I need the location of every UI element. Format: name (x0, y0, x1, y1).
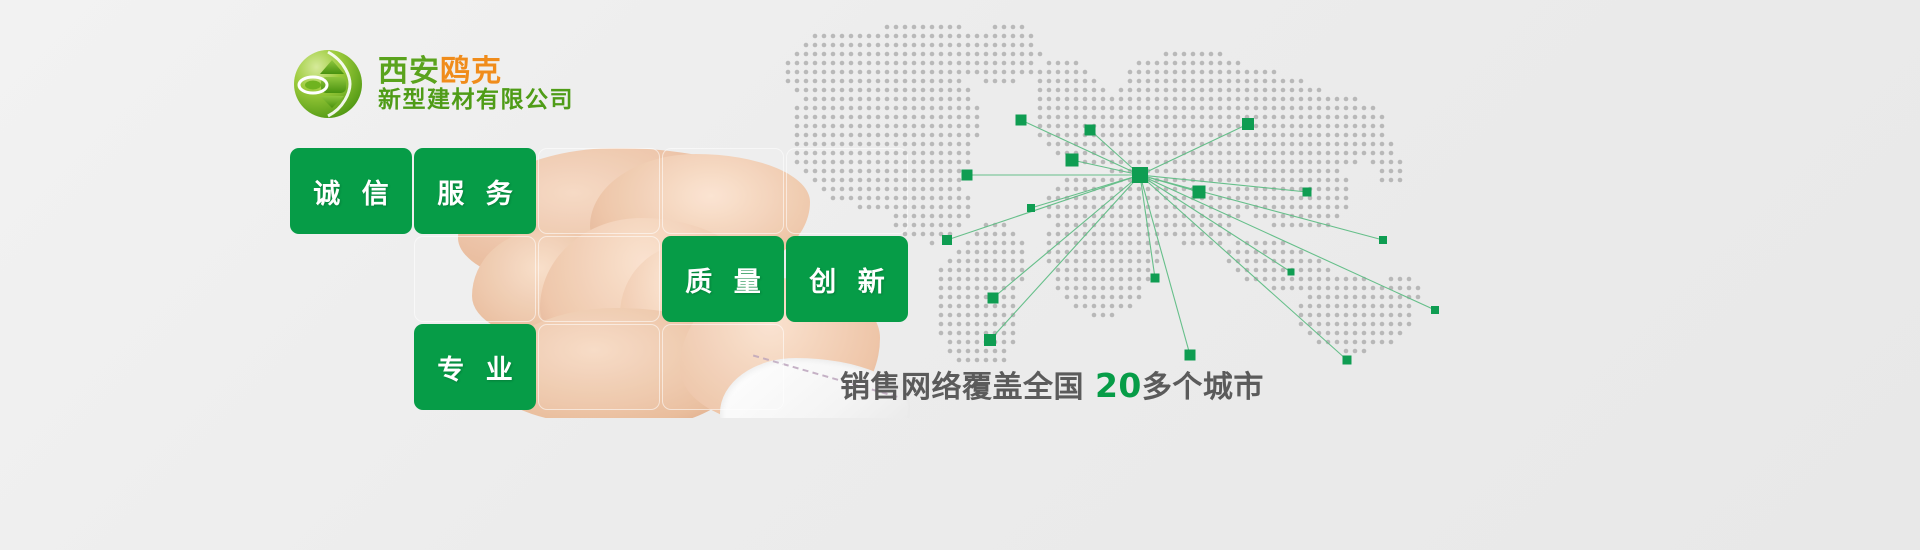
caption-suffix: 多个城市 (1142, 370, 1264, 405)
dotted-world-map-icon (735, 10, 1535, 370)
tile-label: 专 业 (431, 348, 518, 387)
logo-city: 西安 (378, 54, 440, 89)
tile-photo-r1c3 (538, 148, 660, 234)
tile-chengxin[interactable]: 诚 信 (290, 148, 412, 234)
tile-gap-r2c1 (290, 236, 412, 322)
tile-label: 诚 信 (307, 172, 394, 211)
tile-photo-r2c3 (538, 236, 660, 322)
tile-fuwu[interactable]: 服 务 (414, 148, 536, 234)
caption-prefix: 销售网络覆盖全国 (840, 370, 1084, 405)
tile-gap-r3c1 (290, 324, 412, 410)
logo-title: 西安鸥克 (378, 57, 574, 87)
logo-subtitle: 新型建材有限公司 (378, 89, 574, 112)
world-map (735, 10, 1535, 370)
tile-photo-r3c3 (538, 324, 660, 410)
logo-brand: 鸥克 (440, 54, 502, 89)
tile-photo-r2c2 (414, 236, 536, 322)
company-logo[interactable]: 西安鸥克 新型建材有限公司 (292, 48, 574, 120)
promo-banner: 西安鸥克 新型建材有限公司 (0, 0, 1920, 550)
green-globe-emblem-icon (292, 48, 364, 120)
sales-network-caption: 销售网络覆盖全国 20多个城市 (840, 362, 1264, 406)
tile-label: 服 务 (431, 172, 518, 211)
caption-number: 20 (1095, 366, 1142, 405)
tile-zhuanye[interactable]: 专 业 (414, 324, 536, 410)
